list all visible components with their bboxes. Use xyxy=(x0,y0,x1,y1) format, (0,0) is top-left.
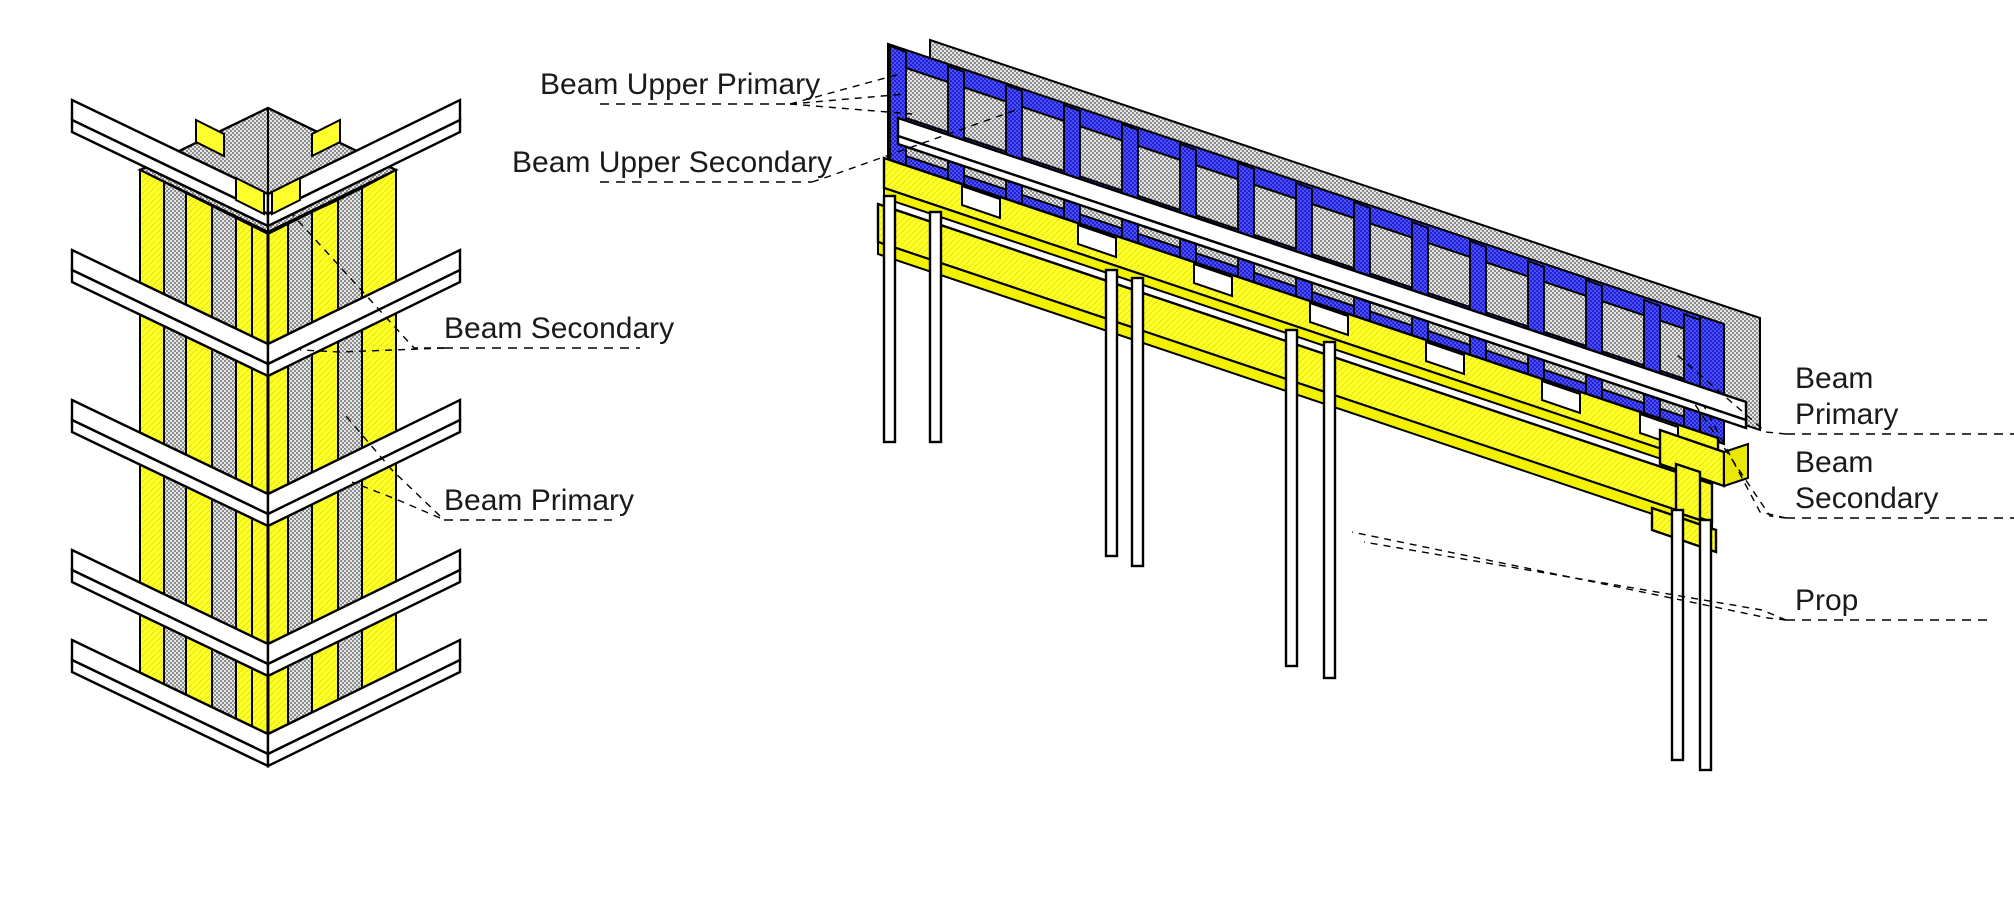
label-beam-upper-primary: Beam Upper Primary xyxy=(540,68,820,101)
diagram-graphics: Beam Upper Primary Beam Upper Secondary … xyxy=(0,0,2014,900)
label-beam-secondary-right-line1: Beam xyxy=(1795,446,1873,479)
leader-line-prop-a xyxy=(1352,532,1786,620)
leader-line-prop-b xyxy=(1364,542,1786,620)
label-beam-primary-left: Beam Primary xyxy=(444,484,634,517)
column-formwork-view xyxy=(72,100,460,766)
label-beam-secondary-right-line2: Secondary xyxy=(1795,482,1938,515)
beam-formwork-view xyxy=(878,40,1760,770)
label-beam-primary-right-line1: Beam xyxy=(1795,362,1873,395)
label-prop: Prop xyxy=(1795,584,1858,617)
diagram-canvas: Beam Upper Primary Beam Upper Secondary … xyxy=(0,0,2014,900)
label-beam-primary-right-line2: Primary xyxy=(1795,398,1898,431)
label-beam-secondary-left: Beam Secondary xyxy=(444,312,674,345)
label-beam-upper-secondary: Beam Upper Secondary xyxy=(512,146,832,179)
